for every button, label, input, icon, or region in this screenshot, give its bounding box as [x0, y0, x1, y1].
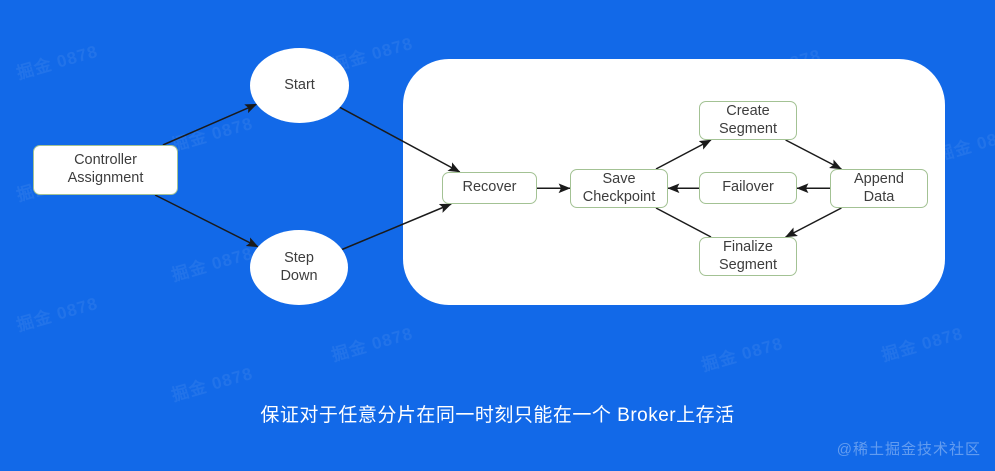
node-label: ControllerAssignment — [64, 152, 148, 187]
node-create-segment[interactable]: CreateSegment — [699, 101, 797, 140]
node-save-checkpoint[interactable]: SaveCheckpoint — [570, 169, 668, 208]
node-start[interactable]: Start — [250, 48, 349, 123]
node-label: Recover — [459, 179, 521, 197]
node-failover[interactable]: Failover — [699, 172, 797, 204]
node-label: SaveCheckpoint — [579, 171, 660, 206]
node-controller-assignment[interactable]: ControllerAssignment — [33, 145, 178, 195]
node-finalize-segment[interactable]: FinalizeSegment — [699, 237, 797, 276]
node-label: Failover — [718, 179, 778, 197]
slide-canvas: 掘金 0878掘金 0878掘金 0878掘金 0878掘金 0878掘金 08… — [0, 0, 995, 471]
node-recover[interactable]: Recover — [442, 172, 537, 204]
caption-text: 保证对于任意分片在同一时刻只能在一个 Broker上存活 — [0, 400, 995, 427]
node-label: Start — [280, 77, 319, 95]
node-label: AppendData — [850, 171, 908, 206]
node-append-data[interactable]: AppendData — [830, 169, 928, 208]
brand-watermark: @稀土掘金技术社区 — [837, 438, 981, 459]
node-label: FinalizeSegment — [715, 239, 781, 274]
node-label: CreateSegment — [715, 103, 781, 138]
node-step-down[interactable]: StepDown — [250, 230, 348, 305]
node-label: StepDown — [276, 250, 321, 285]
